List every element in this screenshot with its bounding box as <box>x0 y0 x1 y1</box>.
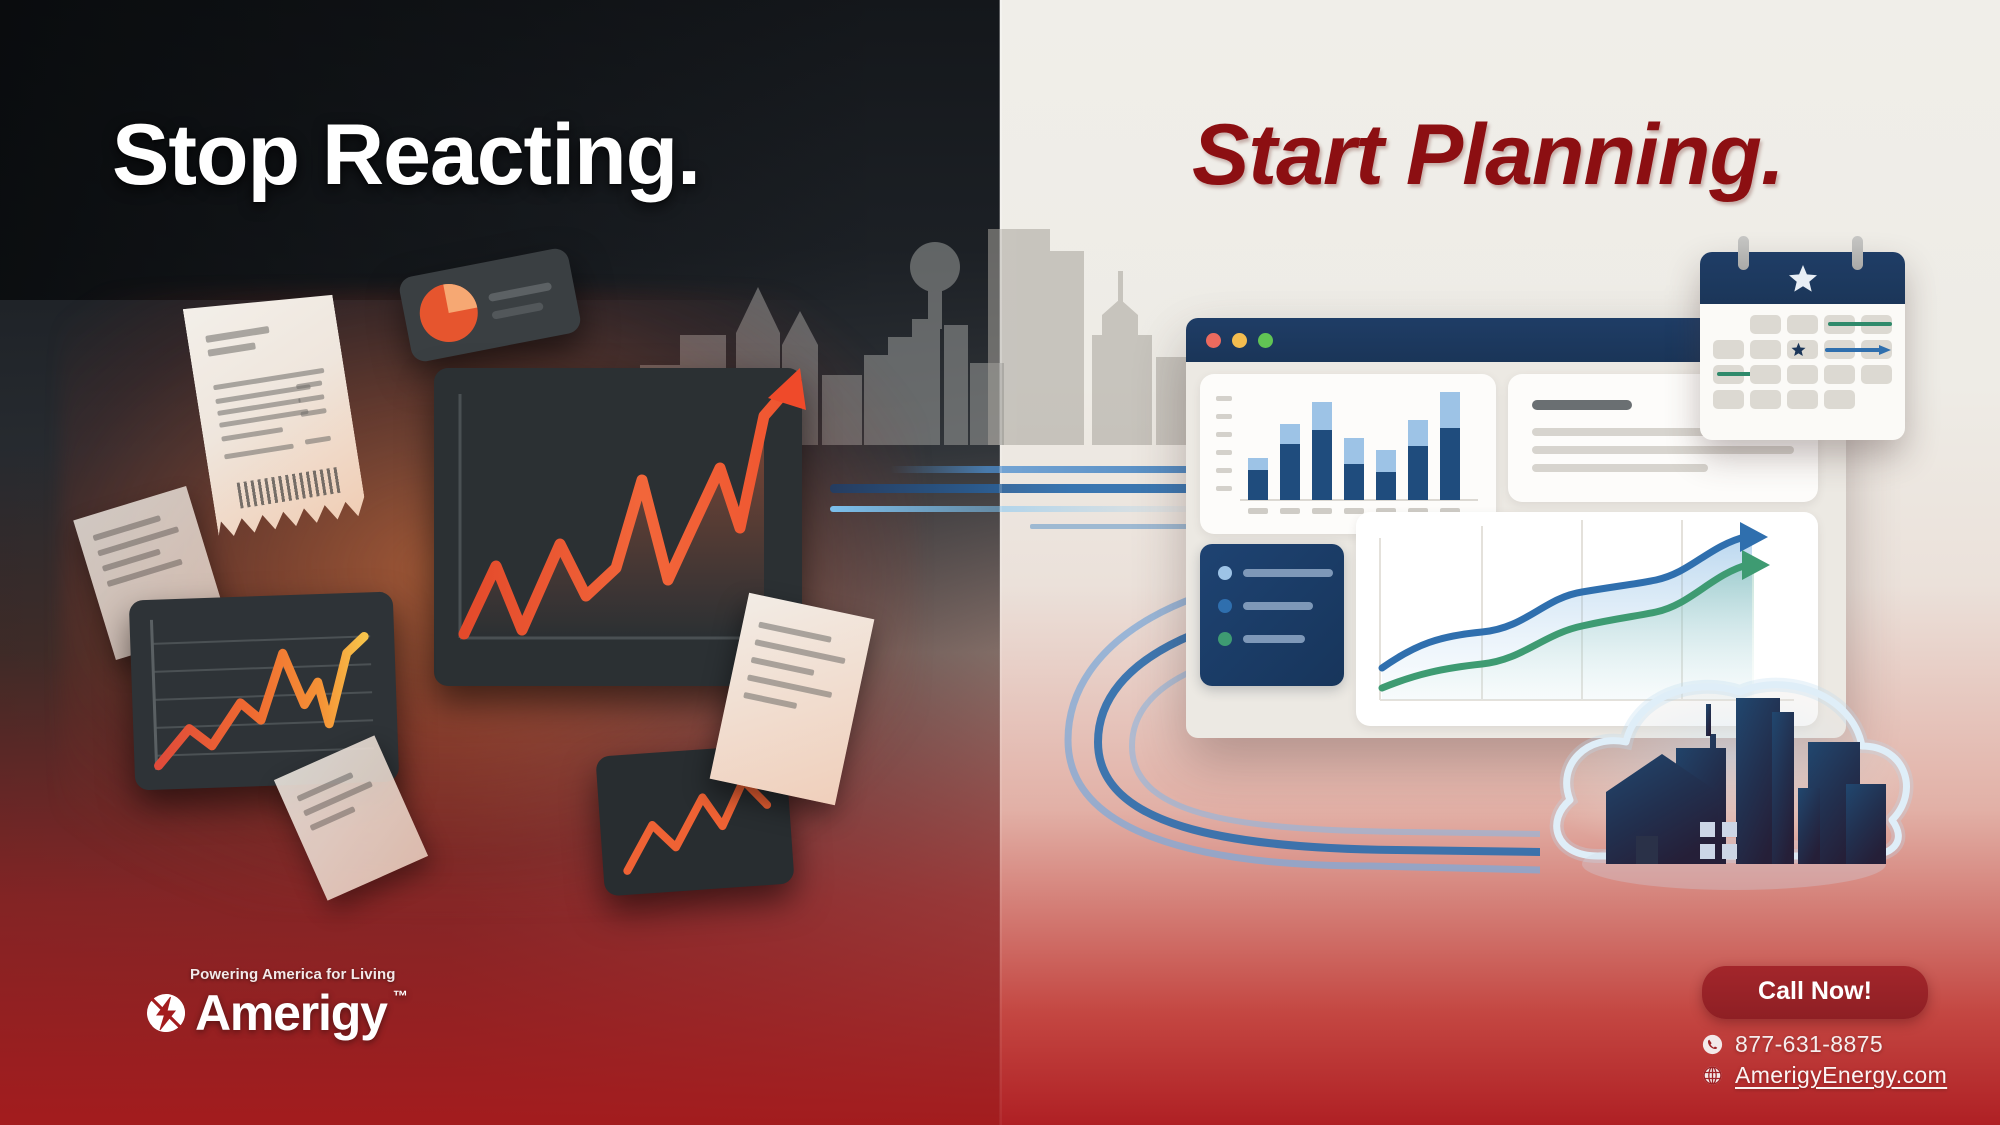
status-dot-complete <box>1218 632 1232 646</box>
calendar-day-cell[interactable] <box>1787 390 1818 409</box>
calendar-day-cell[interactable] <box>1787 315 1818 334</box>
star-icon <box>1788 264 1818 293</box>
website-url[interactable]: AmerigyEnergy.com <box>1735 1062 1947 1089</box>
calendar-day-cell[interactable] <box>1750 340 1781 359</box>
calendar-day-cell[interactable] <box>1824 390 1855 409</box>
calendar-day-cell-marked[interactable] <box>1787 340 1818 359</box>
headline-right: Start Planning. <box>1192 106 1784 205</box>
calendar-day-cell[interactable] <box>1713 390 1744 409</box>
calendar-day-cell[interactable] <box>1861 315 1892 334</box>
globe-icon <box>1702 1065 1723 1086</box>
calendar-day-cell[interactable] <box>1824 365 1855 384</box>
calendar-day-cell[interactable] <box>1750 315 1781 334</box>
status-dot-active <box>1218 599 1232 613</box>
calendar-event-arrow-blue <box>1825 344 1893 356</box>
calendar-day-cell[interactable] <box>1713 340 1744 359</box>
marketing-banner: Stop Reacting. Start Planning. Powering … <box>0 0 2000 1125</box>
calendar-ring-left <box>1738 236 1749 270</box>
calendar-header <box>1700 252 1905 304</box>
phone-number: 877-631-8875 <box>1735 1031 1883 1058</box>
calendar-ring-right <box>1852 236 1863 270</box>
status-list-label <box>1243 602 1313 610</box>
calendar-day-cell[interactable] <box>1861 340 1892 359</box>
cloud-city-icon <box>1540 660 1930 910</box>
close-window-dot[interactable] <box>1206 333 1221 348</box>
star-icon <box>1791 342 1806 357</box>
brand-tagline: Powering America for Living <box>190 966 396 983</box>
contact-details: 877-631-8875 AmerigyEnergy.com <box>1702 1031 1928 1089</box>
status-dot-pending <box>1218 566 1232 580</box>
brand-name: Amerigy™ <box>195 984 387 1042</box>
calendar-day-cell[interactable] <box>1750 390 1781 409</box>
trademark-symbol: ™ <box>393 988 407 1005</box>
lightning-bolt-circle-icon <box>146 993 186 1033</box>
stacked-bar-chart-card[interactable] <box>1200 374 1496 534</box>
minimize-window-dot[interactable] <box>1232 333 1247 348</box>
card-body-line <box>1532 446 1794 454</box>
call-now-button[interactable]: Call Now! <box>1702 966 1928 1019</box>
calendar-day-cell[interactable] <box>1713 365 1744 384</box>
call-to-action-block: Call Now! 877-631-8875 <box>1702 966 1928 1093</box>
calendar-event-bar-green <box>1828 322 1892 326</box>
phone-icon <box>1702 1034 1723 1055</box>
amerigy-logo[interactable]: Powering America for Living Amerigy™ <box>146 966 396 1042</box>
status-list-label <box>1243 635 1305 643</box>
status-list-card[interactable] <box>1200 544 1344 686</box>
calendar-day-cell[interactable] <box>1750 365 1781 384</box>
calendar-day-grid <box>1700 304 1905 420</box>
headline-left: Stop Reacting. <box>112 106 700 205</box>
calendar-day-cell[interactable] <box>1787 365 1818 384</box>
card-body-line <box>1532 464 1708 472</box>
status-list-label <box>1243 569 1333 577</box>
card-heading-placeholder <box>1532 400 1632 410</box>
website-row[interactable]: AmerigyEnergy.com <box>1702 1062 1928 1089</box>
calendar-day-cell[interactable] <box>1861 365 1892 384</box>
phone-row[interactable]: 877-631-8875 <box>1702 1031 1928 1058</box>
planning-calendar-widget[interactable] <box>1700 252 1905 440</box>
maximize-window-dot[interactable] <box>1258 333 1273 348</box>
